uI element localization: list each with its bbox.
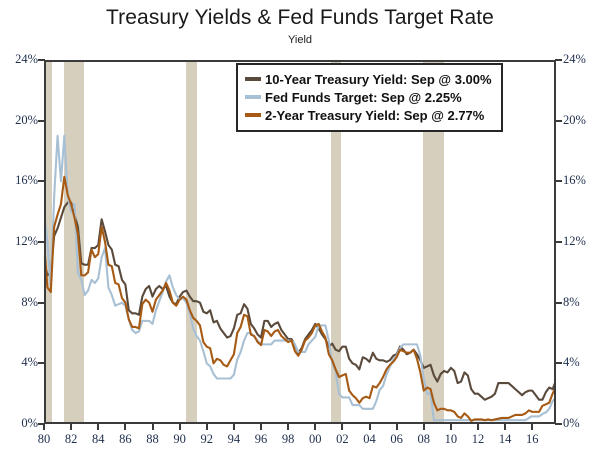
x-tick-label: 02 xyxy=(327,432,357,447)
x-tick-label: 14 xyxy=(490,432,520,447)
x-tick-label: 96 xyxy=(246,432,276,447)
y-tick-label-right: 12% xyxy=(563,234,600,249)
y-tick-label-right: 0% xyxy=(563,416,600,431)
y-tick xyxy=(38,362,45,364)
x-tick xyxy=(423,423,425,430)
y-tick-label-right: 4% xyxy=(563,355,600,370)
x-tick xyxy=(341,423,343,430)
x-tick-label: 98 xyxy=(273,432,303,447)
y-tick xyxy=(38,241,45,243)
y-tick-label-right: 16% xyxy=(563,173,600,188)
y-tick-label-right: 8% xyxy=(563,295,600,310)
x-tick-label: 06 xyxy=(382,432,412,447)
x-tick-label: 04 xyxy=(355,432,385,447)
x-tick-label: 82 xyxy=(56,432,86,447)
chart-legend: 10-Year Treasury Yield: Sep @ 3.00%Fed F… xyxy=(236,63,503,132)
legend-label: Fed Funds Target: Sep @ 2.25% xyxy=(265,90,462,105)
x-tick xyxy=(450,423,452,430)
y-tick-label-right: 20% xyxy=(563,113,600,128)
series-line xyxy=(44,177,556,421)
x-tick xyxy=(70,423,72,430)
x-tick-label: 90 xyxy=(165,432,195,447)
page-title: Treasury Yields & Fed Funds Target Rate xyxy=(0,6,600,30)
x-tick xyxy=(179,423,181,430)
x-tick xyxy=(287,423,289,430)
x-tick xyxy=(314,423,316,430)
x-tick xyxy=(97,423,99,430)
x-tick-label: 84 xyxy=(83,432,113,447)
y-tick xyxy=(38,302,45,304)
legend-label: 10-Year Treasury Yield: Sep @ 3.00% xyxy=(265,72,492,87)
x-tick xyxy=(369,423,371,430)
x-tick-label: 00 xyxy=(300,432,330,447)
x-tick xyxy=(477,423,479,430)
x-tick-label: 92 xyxy=(192,432,222,447)
y-tick-right xyxy=(555,180,562,182)
y-tick-right xyxy=(555,120,562,122)
y-tick-right xyxy=(555,302,562,304)
y-tick-right xyxy=(555,241,562,243)
y-tick-label: 12% xyxy=(2,234,38,249)
x-tick-label: 12 xyxy=(463,432,493,447)
x-tick xyxy=(206,423,208,430)
y-tick-label: 16% xyxy=(2,173,38,188)
chart-page: Treasury Yields & Fed Funds Target Rate … xyxy=(0,0,600,460)
x-tick xyxy=(531,423,533,430)
legend-label: 2-Year Treasury Yield: Sep @ 2.77% xyxy=(265,108,484,123)
x-tick-label: 88 xyxy=(138,432,168,447)
legend-item[interactable]: 10-Year Treasury Yield: Sep @ 3.00% xyxy=(245,70,492,88)
x-tick xyxy=(124,423,126,430)
y-tick-right xyxy=(555,423,562,425)
y-tick-label: 20% xyxy=(2,113,38,128)
x-tick-label: 10 xyxy=(436,432,466,447)
legend-item[interactable]: 2-Year Treasury Yield: Sep @ 2.77% xyxy=(245,106,492,124)
y-tick-label: 8% xyxy=(2,295,38,310)
y-tick-right xyxy=(555,59,562,61)
x-tick xyxy=(43,423,45,430)
x-tick-label: 94 xyxy=(219,432,249,447)
x-tick-label: 80 xyxy=(29,432,59,447)
x-tick xyxy=(504,423,506,430)
series-line xyxy=(44,203,556,400)
y-tick xyxy=(38,120,45,122)
x-tick-label: 08 xyxy=(409,432,439,447)
x-tick xyxy=(396,423,398,430)
x-tick-label: 86 xyxy=(110,432,140,447)
legend-item[interactable]: Fed Funds Target: Sep @ 2.25% xyxy=(245,88,492,106)
y-tick xyxy=(38,59,45,61)
x-tick xyxy=(233,423,235,430)
chart-subtitle: Yield xyxy=(0,34,600,46)
x-tick-label: 16 xyxy=(517,432,547,447)
x-tick xyxy=(260,423,262,430)
y-tick xyxy=(38,180,45,182)
y-tick-right xyxy=(555,362,562,364)
y-tick-label-right: 24% xyxy=(563,52,600,67)
y-tick-label: 4% xyxy=(2,355,38,370)
legend-color-swatch xyxy=(245,113,261,117)
x-tick xyxy=(152,423,154,430)
legend-color-swatch xyxy=(245,77,261,81)
legend-color-swatch xyxy=(245,95,261,99)
y-tick-label: 0% xyxy=(2,416,38,431)
y-tick-label: 24% xyxy=(2,52,38,67)
